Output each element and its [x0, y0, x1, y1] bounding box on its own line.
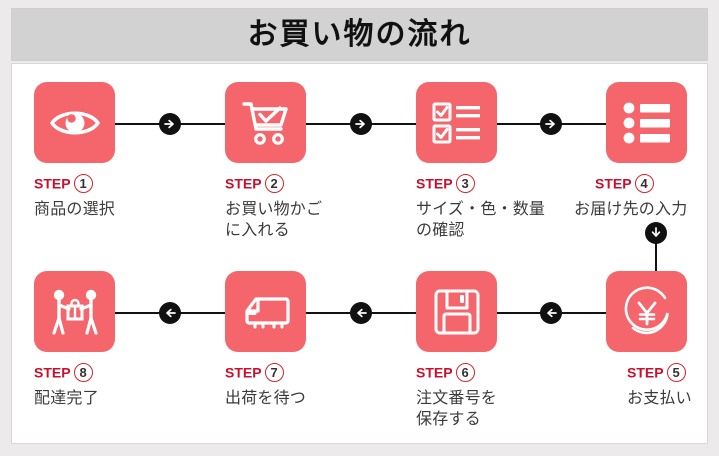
step-6-meta: STEP6 注文番号を 保存する [416, 363, 596, 430]
step-1-number: 1 [74, 174, 93, 193]
step-3-number: 3 [456, 174, 475, 193]
step-word: STEP [595, 176, 632, 192]
step-word: STEP [34, 176, 71, 192]
connector-5-to-6 [540, 302, 562, 324]
step-5-icon-box [606, 271, 687, 352]
step-3-meta: STEP3 サイズ・色・数量 の確認 [416, 174, 596, 241]
step-1-icon-box [34, 82, 115, 163]
step-6-icon-box [416, 271, 497, 352]
step-word: STEP [34, 365, 71, 381]
step-4-label: STEP4 [574, 174, 719, 193]
step-word: STEP [416, 365, 453, 381]
step-6-label: STEP6 [416, 363, 596, 382]
step-5-meta: STEP5 お支払い [606, 363, 719, 409]
connector-3-to-4 [540, 113, 562, 135]
step-1-label: STEP1 [34, 174, 214, 193]
step-2-meta: STEP2 お買い物かご に入れる [225, 174, 405, 241]
arrow-right-icon [355, 118, 367, 130]
shopping-cart-icon [241, 98, 291, 148]
step-4-description: お届け先の入力 [574, 199, 719, 220]
step-7-number: 7 [265, 363, 284, 382]
step-6-description: 注文番号を 保存する [416, 388, 596, 430]
step-8-icon-box [34, 271, 115, 352]
step-1-description: 商品の選択 [34, 199, 214, 220]
shopping-flow-page: お買い物の流れ [0, 0, 719, 456]
step-7-meta: STEP7 出荷を待つ [225, 363, 405, 409]
step-6-number: 6 [456, 363, 475, 382]
step-2-description: お買い物かご に入れる [225, 199, 405, 241]
flow-diagram-panel: STEP1 商品の選択 STEP2 お買い物かご に入れる [11, 63, 708, 444]
step-2-number: 2 [265, 174, 284, 193]
step-5-number: 5 [667, 363, 686, 382]
arrow-left-icon [355, 307, 367, 319]
step-7-label: STEP7 [225, 363, 405, 382]
step-2-icon-box [225, 82, 306, 163]
arrow-right-icon [545, 118, 557, 130]
step-3-icon-box [416, 82, 497, 163]
step-word: STEP [225, 176, 262, 192]
step-7-description: 出荷を待つ [225, 388, 405, 409]
step-word: STEP [627, 365, 664, 381]
connector-1-to-2 [159, 113, 181, 135]
step-4-meta: STEP4 お届け先の入力 [574, 174, 719, 220]
connector-2-to-3 [350, 113, 372, 135]
checklist-icon [432, 101, 482, 145]
delivery-truck-icon [241, 291, 291, 333]
yen-circle-icon [621, 286, 673, 338]
arrow-right-icon [164, 118, 176, 130]
page-title: お買い物の流れ [12, 20, 707, 50]
arrow-left-icon [164, 307, 176, 319]
step-2-label: STEP2 [225, 174, 405, 193]
step-4-icon-box [606, 82, 687, 163]
step-word: STEP [225, 365, 262, 381]
connector-6-to-7 [350, 302, 372, 324]
floppy-save-icon [434, 289, 480, 335]
step-8-description: 配達完了 [34, 388, 214, 409]
connector-7-to-8 [159, 302, 181, 324]
arrow-left-icon [545, 307, 557, 319]
connector-4-to-5 [645, 222, 667, 244]
step-3-label: STEP3 [416, 174, 596, 193]
step-5-description: お支払い [606, 388, 719, 409]
arrow-down-icon [650, 227, 662, 239]
step-8-meta: STEP8 配達完了 [34, 363, 214, 409]
step-5-label: STEP5 [606, 363, 719, 382]
step-7-icon-box [225, 271, 306, 352]
page-header-banner: お買い物の流れ [11, 8, 708, 61]
step-1-meta: STEP1 商品の選択 [34, 174, 214, 220]
step-8-number: 8 [74, 363, 93, 382]
bullet-list-icon [623, 102, 671, 144]
eye-icon [49, 97, 101, 149]
step-3-description: サイズ・色・数量 の確認 [416, 199, 596, 241]
handover-people-icon [48, 288, 102, 336]
step-word: STEP [416, 176, 453, 192]
step-4-number: 4 [635, 174, 654, 193]
step-8-label: STEP8 [34, 363, 214, 382]
